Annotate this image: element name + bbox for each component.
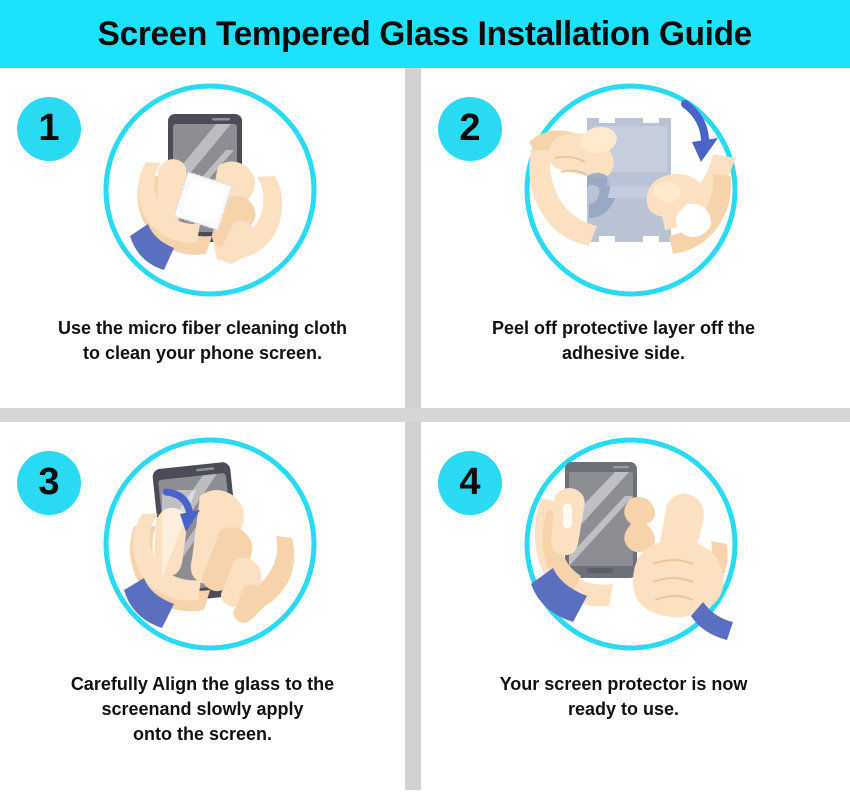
caption-line: Your screen protector is now xyxy=(433,672,814,697)
header-banner: Screen Tempered Glass Installation Guide xyxy=(0,0,850,68)
steps-grid: 1 xyxy=(0,68,850,798)
caption-line: Use the micro fiber cleaning cloth xyxy=(12,316,393,341)
vertical-divider xyxy=(405,68,421,790)
caption-line: Carefully Align the glass to the xyxy=(12,672,393,697)
hand-cleaning-phone-with-cloth-icon xyxy=(100,80,320,300)
step-number-2: 2 xyxy=(459,109,480,147)
caption-line: onto the screen. xyxy=(12,722,393,747)
step-number-badge-1: 1 xyxy=(17,97,81,161)
step-caption-1: Use the micro fiber cleaning cloth to cl… xyxy=(12,316,393,366)
hand-holding-phone-thumbs-up-icon xyxy=(521,434,741,654)
step-panel-1: 1 xyxy=(0,68,405,408)
step-number-4: 4 xyxy=(459,463,480,501)
caption-line: adhesive side. xyxy=(433,341,814,366)
hands-peeling-protective-layer-icon xyxy=(521,80,741,300)
page-title: Screen Tempered Glass Installation Guide xyxy=(98,15,752,54)
step-panel-3: 3 xyxy=(0,422,405,798)
step-panel-2: 2 xyxy=(421,68,826,408)
step-number-1: 1 xyxy=(38,109,59,147)
caption-line: to clean your phone screen. xyxy=(12,341,393,366)
step-number-badge-2: 2 xyxy=(438,97,502,161)
step-caption-2: Peel off protective layer off the adhesi… xyxy=(433,316,814,366)
hand-aligning-glass-on-phone-icon xyxy=(100,434,320,654)
step-number-3: 3 xyxy=(38,463,59,501)
horizontal-divider xyxy=(0,408,850,422)
step-caption-3: Carefully Align the glass to the screena… xyxy=(12,672,393,747)
caption-line: screenand slowly apply xyxy=(12,697,393,722)
step-number-badge-4: 4 xyxy=(438,451,502,515)
step-number-badge-3: 3 xyxy=(17,451,81,515)
caption-line: ready to use. xyxy=(433,697,814,722)
step-caption-4: Your screen protector is now ready to us… xyxy=(433,672,814,722)
step-panel-4: 4 xyxy=(421,422,826,798)
caption-line: Peel off protective layer off the xyxy=(433,316,814,341)
